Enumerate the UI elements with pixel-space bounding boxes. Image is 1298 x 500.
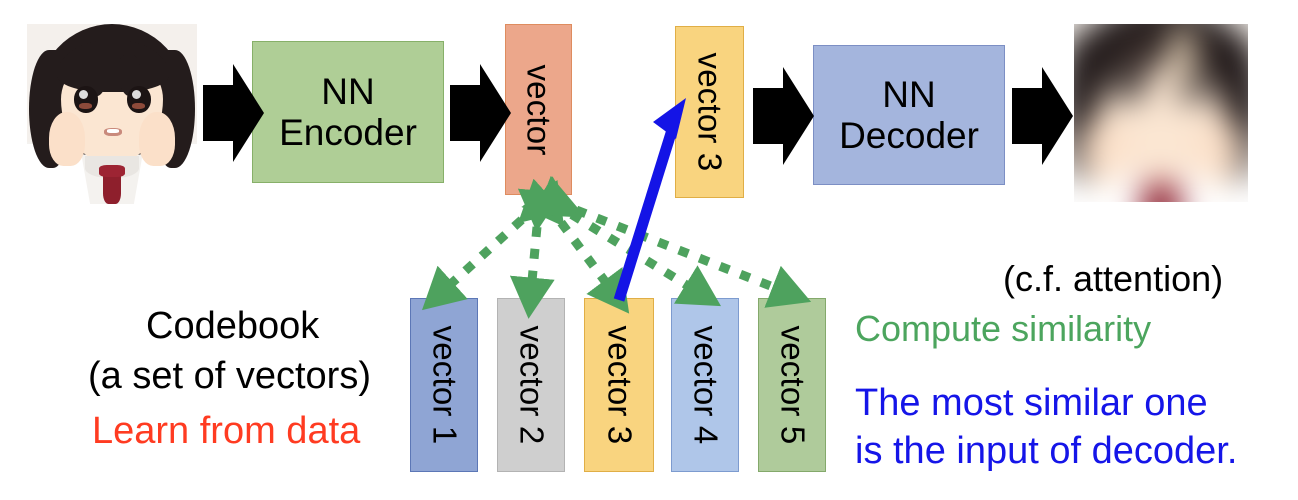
codebook-heading-line2: (a set of vectors): [88, 355, 371, 398]
similarity-arrow-2: [531, 205, 539, 292]
encoder-output-vector-box[interactable]: vector: [505, 24, 572, 195]
encoder-output-vector-label: vector: [520, 64, 558, 155]
similarity-arrow-5: [556, 202, 786, 292]
black-arrow-decoder-to-output: [1012, 67, 1073, 165]
compute-similarity-label: Compute similarity: [855, 308, 1151, 350]
nn-encoder-box[interactable]: NN Encoder: [252, 41, 444, 183]
similarity-arrow-3: [548, 205, 613, 292]
codebook-vector-2-label: vector 2: [512, 326, 550, 445]
codebook-vector-1-label: vector 1: [425, 326, 463, 445]
codebook-note: Learn from data: [92, 410, 360, 453]
nn-decoder-box[interactable]: NN Decoder: [813, 45, 1005, 185]
codebook-vector-3[interactable]: vector 3: [584, 298, 654, 472]
selected-vector-label: vector 3: [691, 53, 729, 172]
output-image: [1074, 24, 1248, 202]
codebook-vector-4[interactable]: vector 4: [671, 298, 739, 472]
codebook-vector-5[interactable]: vector 5: [758, 298, 826, 472]
cf-attention-note: (c.f. attention): [1003, 258, 1223, 300]
codebook-heading-line1: Codebook: [146, 305, 319, 348]
similarity-arrow-1: [442, 205, 538, 292]
input-image: [27, 24, 197, 204]
codebook-vector-2[interactable]: vector 2: [497, 298, 565, 472]
diagram-canvas: NN Encoder vector vector 3 NN Decoder: [0, 0, 1298, 500]
similarity-arrow-4: [553, 203, 698, 292]
codebook-vector-1[interactable]: vector 1: [410, 298, 478, 472]
selected-vector-box[interactable]: vector 3: [675, 26, 744, 198]
nn-decoder-label-line2: Decoder: [839, 115, 979, 156]
result-line1: The most similar one: [855, 382, 1208, 425]
black-arrow-encoder-to-vector: [450, 64, 511, 162]
codebook-vector-5-label: vector 5: [773, 326, 811, 445]
nn-encoder-label-line1: NN: [279, 71, 417, 112]
result-line2: is the input of decoder.: [855, 430, 1237, 473]
nn-encoder-label-line2: Encoder: [279, 112, 417, 153]
nn-decoder-label-line1: NN: [839, 74, 979, 115]
codebook-vector-3-label: vector 3: [600, 326, 638, 445]
black-arrow-vector3-to-decoder: [753, 67, 814, 165]
codebook-vector-4-label: vector 4: [686, 326, 724, 445]
